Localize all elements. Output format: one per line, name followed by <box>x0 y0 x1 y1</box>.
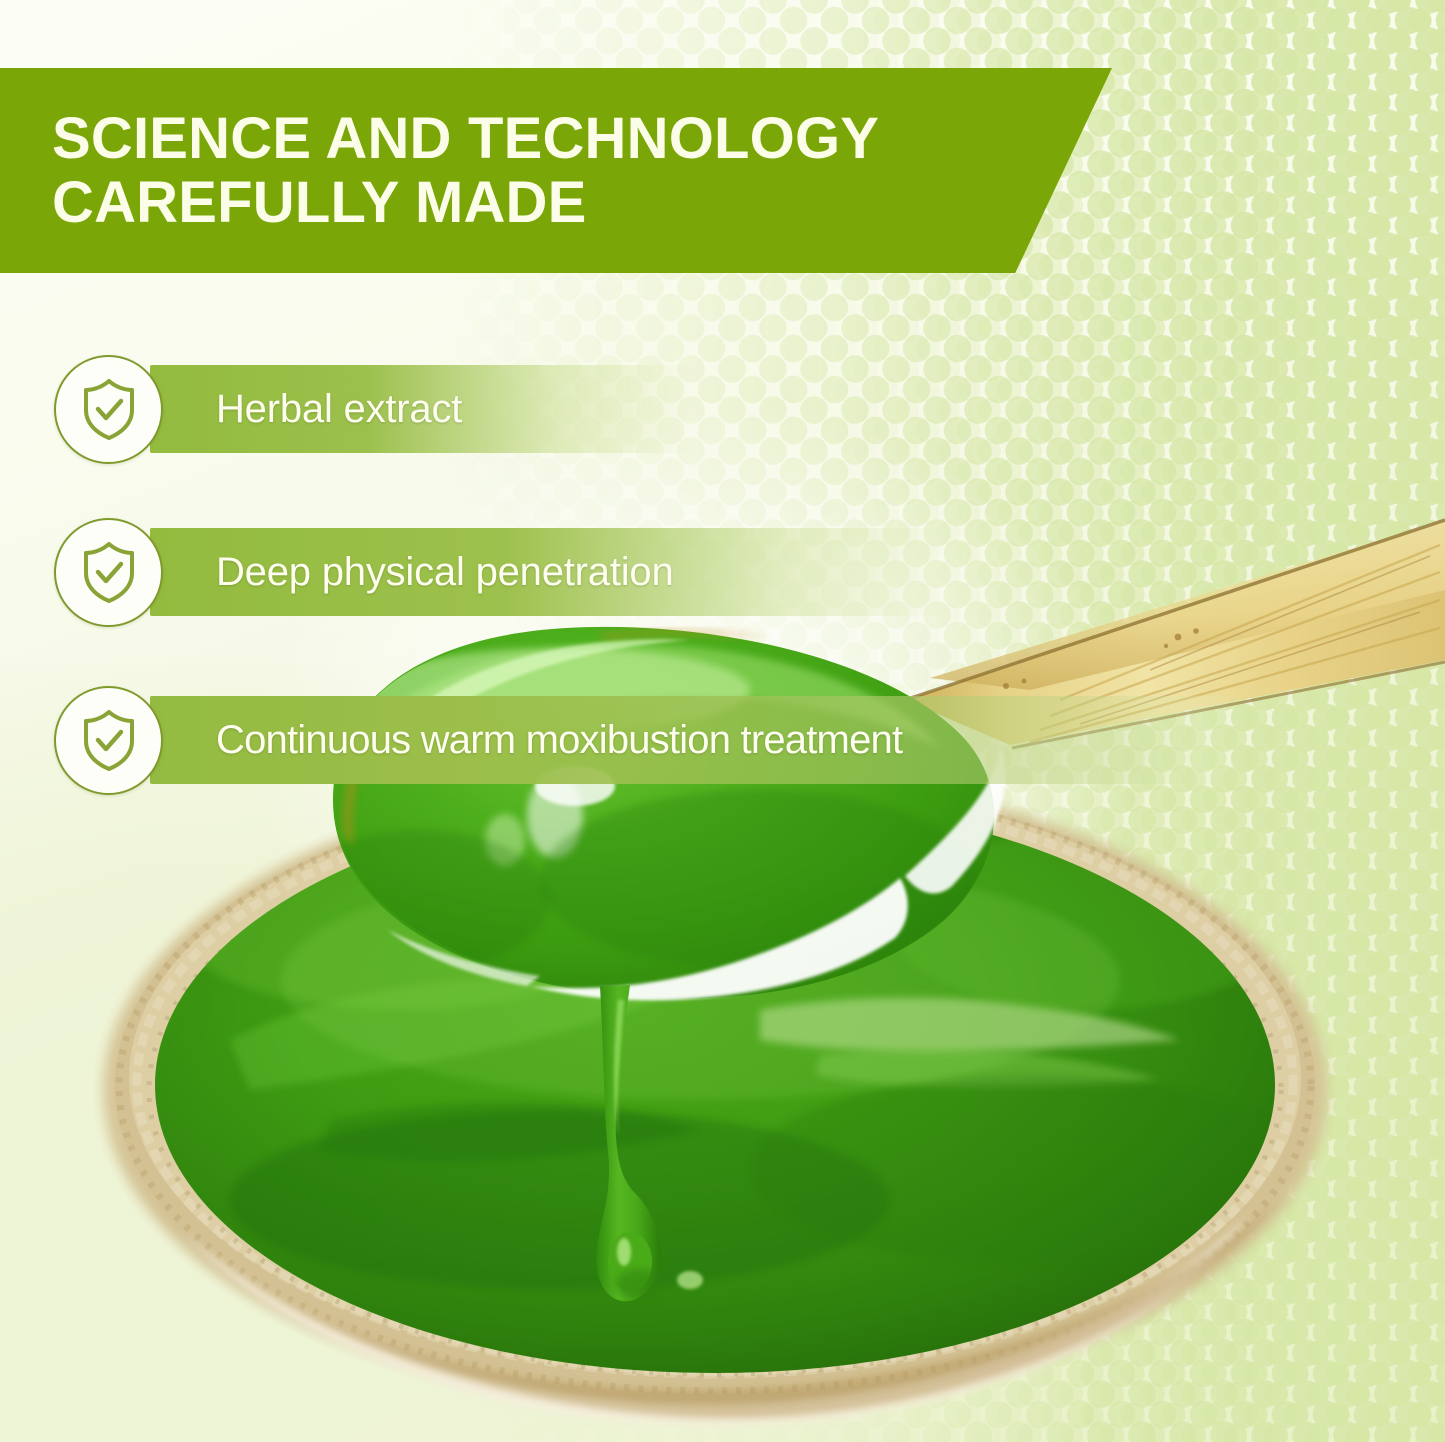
feature-label: Continuous warm moxibustion treatment <box>216 718 902 763</box>
shield-check-icon <box>54 686 163 795</box>
feature-label: Herbal extract <box>216 387 462 432</box>
page-title: SCIENCE AND TECHNOLOGY CAREFULLY MADE <box>0 107 879 233</box>
feature-row-deep-physical-penetration: Deep physical penetration <box>54 519 674 625</box>
product-feature-graphic: SCIENCE AND TECHNOLOGY CAREFULLY MADE He… <box>0 0 1445 1442</box>
shield-check-icon <box>54 355 163 464</box>
feature-label: Deep physical penetration <box>216 550 674 595</box>
feature-row-continuous-warm-moxibustion-treatment: Continuous warm moxibustion treatment <box>54 687 902 793</box>
feature-row-herbal-extract: Herbal extract <box>54 356 462 462</box>
shield-check-icon <box>54 518 163 627</box>
header-banner: SCIENCE AND TECHNOLOGY CAREFULLY MADE <box>0 68 1112 273</box>
